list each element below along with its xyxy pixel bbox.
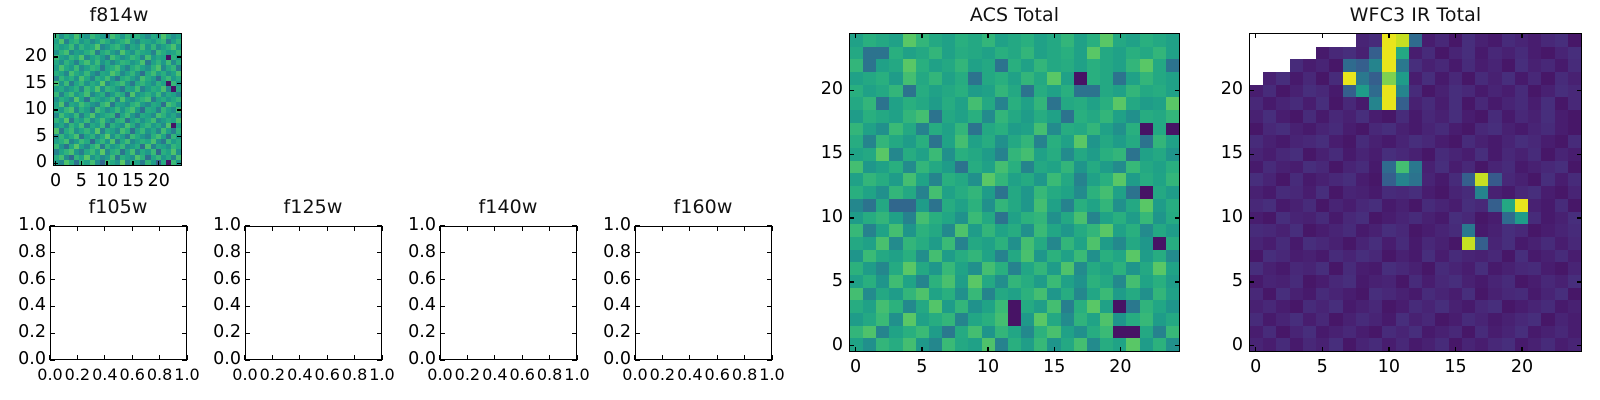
heatmap-cell xyxy=(942,59,955,72)
heatmap-cell xyxy=(1369,34,1382,47)
f125w-ytick-3 xyxy=(245,279,250,280)
heatmap-cell xyxy=(1034,313,1047,326)
heatmap-cell xyxy=(863,110,876,123)
f160w-xtick-2 xyxy=(689,355,690,360)
wfc3-ytick-right-0 xyxy=(1577,345,1582,346)
heatmap-cell xyxy=(1153,173,1166,186)
heatmap-cell xyxy=(1087,186,1100,199)
heatmap-cell xyxy=(916,326,929,339)
heatmap-cell xyxy=(1356,72,1369,85)
heatmap-cell xyxy=(1034,199,1047,212)
heatmap-cell xyxy=(1250,123,1263,136)
heatmap-cell xyxy=(1140,173,1153,186)
heatmap-cell xyxy=(1126,237,1139,250)
heatmap-cell xyxy=(1382,97,1395,110)
heatmap-cell xyxy=(1555,59,1568,72)
heatmap-cell xyxy=(1008,199,1021,212)
heatmap-cell xyxy=(1369,275,1382,288)
f160w-yticklabel-1: 0.2 xyxy=(591,322,631,342)
wfc3-ytick-10 xyxy=(1249,217,1254,218)
heatmap-cell xyxy=(929,224,942,237)
f814w-ytick-right-0 xyxy=(177,163,182,164)
heatmap-cell xyxy=(942,300,955,313)
heatmap-cell xyxy=(1369,148,1382,161)
f140w-ytick-right-2 xyxy=(572,306,577,307)
heatmap-cell xyxy=(1047,47,1060,60)
heatmap-cell xyxy=(1409,161,1422,174)
heatmap-cell xyxy=(1316,250,1329,263)
heatmap-cell xyxy=(863,148,876,161)
heatmap-cell xyxy=(903,250,916,263)
heatmap-cell xyxy=(1034,338,1047,351)
heatmap-cell xyxy=(929,85,942,98)
heatmap-cell xyxy=(942,173,955,186)
heatmap-cell xyxy=(1382,275,1395,288)
heatmap-cell xyxy=(929,262,942,275)
heatmap-cell xyxy=(1356,186,1369,199)
panel-title-wfc3-total: WFC3 IR Total xyxy=(1249,4,1582,26)
heatmap-cell xyxy=(876,148,889,161)
heatmap-cell xyxy=(1100,123,1113,136)
f125w-xtick-5 xyxy=(381,355,382,360)
heatmap-cell xyxy=(1061,186,1074,199)
f814w-xtick-top-20 xyxy=(158,33,159,38)
heatmap-cell xyxy=(995,313,1008,326)
wfc3-ytick-20 xyxy=(1249,90,1254,91)
heatmap-cell xyxy=(1100,135,1113,148)
heatmap-cell xyxy=(1462,47,1475,60)
heatmap-cell xyxy=(929,161,942,174)
heatmap-cell xyxy=(942,313,955,326)
f814w-ytick-20 xyxy=(53,56,58,57)
heatmap-cell xyxy=(889,97,902,110)
acs-xticklabel-20: 20 xyxy=(1095,357,1145,377)
heatmap-cell xyxy=(863,173,876,186)
heatmap-cell xyxy=(916,313,929,326)
heatmap-cell xyxy=(968,224,981,237)
heatmap-cell xyxy=(1462,212,1475,225)
acs-ytick-right-0 xyxy=(1175,345,1180,346)
heatmap-cell xyxy=(942,110,955,123)
heatmap-cell xyxy=(1087,326,1100,339)
heatmap-cell xyxy=(1462,97,1475,110)
heatmap-cell xyxy=(1113,186,1126,199)
heatmap-cell xyxy=(876,173,889,186)
heatmap-cell xyxy=(1140,275,1153,288)
heatmap-cell xyxy=(1290,300,1303,313)
heatmap-cell xyxy=(1462,313,1475,326)
heatmap-cell xyxy=(1061,212,1074,225)
heatmap-cell xyxy=(1074,47,1087,60)
heatmap-cell xyxy=(1166,288,1179,301)
panel-title-f125w: f125w xyxy=(243,196,383,218)
heatmap-cell xyxy=(1568,173,1581,186)
heatmap-cell xyxy=(1409,212,1422,225)
heatmap-cell xyxy=(1422,288,1435,301)
heatmap-cell xyxy=(1541,110,1554,123)
heatmap-cell xyxy=(1263,97,1276,110)
heatmap-cell xyxy=(1502,34,1515,47)
heatmap-cell xyxy=(955,47,968,60)
f105w-xtick-top-1 xyxy=(77,226,78,231)
heatmap-cell xyxy=(929,313,942,326)
heatmap-cell xyxy=(1541,135,1554,148)
heatmap-cell xyxy=(1250,72,1263,85)
f160w-xtick-top-0 xyxy=(634,226,635,231)
f125w-ytick-2 xyxy=(245,306,250,307)
heatmap-cell xyxy=(1303,199,1316,212)
panel-title-f160w: f160w xyxy=(633,196,773,218)
heatmap-cell xyxy=(1369,59,1382,72)
heatmap-cell xyxy=(1435,275,1448,288)
f105w-ytick-right-2 xyxy=(182,306,187,307)
heatmap-cell xyxy=(1126,199,1139,212)
heatmap-cell xyxy=(1449,199,1462,212)
heatmap-cell xyxy=(1528,199,1541,212)
heatmap-cell xyxy=(942,250,955,263)
heatmap-cell xyxy=(1087,97,1100,110)
heatmap-cell xyxy=(1568,161,1581,174)
f160w-xtick-4 xyxy=(744,355,745,360)
heatmap-cell xyxy=(1008,123,1021,136)
heatmap-cell xyxy=(1008,110,1021,123)
heatmap-cell xyxy=(982,148,995,161)
heatmap-cell xyxy=(1329,173,1342,186)
heatmap-cell xyxy=(1356,237,1369,250)
heatmap-cell xyxy=(1541,250,1554,263)
heatmap-cell xyxy=(1153,186,1166,199)
heatmap-cell xyxy=(889,161,902,174)
heatmap-cell xyxy=(1502,338,1515,351)
acs-yticklabel-20: 20 xyxy=(803,79,843,99)
acs-xtick-top-0 xyxy=(855,33,856,38)
heatmap-cell xyxy=(1462,34,1475,47)
heatmap-cell xyxy=(1568,313,1581,326)
heatmap-cell xyxy=(876,212,889,225)
heatmap-cell xyxy=(955,275,968,288)
heatmap-cell xyxy=(1276,47,1289,60)
heatmap-cell xyxy=(1087,161,1100,174)
heatmap-cell xyxy=(1276,326,1289,339)
heatmap-cell xyxy=(916,288,929,301)
heatmap-cell xyxy=(942,123,955,136)
f140w-yticklabel-2: 0.4 xyxy=(396,295,436,315)
heatmap-cell xyxy=(1343,199,1356,212)
plot-area-f105w[interactable] xyxy=(50,226,187,360)
heatmap-cell xyxy=(1488,148,1501,161)
f160w-ytick-right-2 xyxy=(767,306,772,307)
heatmap-cell xyxy=(1113,288,1126,301)
heatmap-cell xyxy=(903,288,916,301)
f140w-xtick-5 xyxy=(576,355,577,360)
heatmap-cell xyxy=(1047,237,1060,250)
plot-area-f125w[interactable] xyxy=(245,226,382,360)
heatmap-cell xyxy=(968,300,981,313)
heatmap-cell xyxy=(1528,262,1541,275)
acs-ytick-right-15 xyxy=(1175,154,1180,155)
heatmap-cell xyxy=(1166,72,1179,85)
heatmap-cell xyxy=(889,212,902,225)
acs-xtick-top-10 xyxy=(987,33,988,38)
f125w-yticklabel-1: 0.2 xyxy=(201,322,241,342)
heatmap-cell xyxy=(863,59,876,72)
f125w-xtick-top-0 xyxy=(244,226,245,231)
heatmap-cell xyxy=(982,72,995,85)
heatmap-cell xyxy=(1343,237,1356,250)
heatmap-cell xyxy=(1290,97,1303,110)
heatmap-cell xyxy=(1502,148,1515,161)
heatmap-cell xyxy=(1021,199,1034,212)
heatmap-cell xyxy=(1263,212,1276,225)
heatmap-cell xyxy=(1303,326,1316,339)
f125w-xtick-top-5 xyxy=(381,226,382,231)
heatmap-cell xyxy=(1422,250,1435,263)
heatmap-cell xyxy=(1422,326,1435,339)
heatmap-cell xyxy=(942,97,955,110)
heatmap-cell xyxy=(876,288,889,301)
heatmap-cell xyxy=(1303,97,1316,110)
heatmap-cell xyxy=(1422,224,1435,237)
plot-area-acs-total[interactable] xyxy=(849,33,1180,352)
heatmap-cell xyxy=(1153,288,1166,301)
heatmap-cell xyxy=(1074,212,1087,225)
heatmap-cell xyxy=(1488,34,1501,47)
heatmap-cell xyxy=(1502,250,1515,263)
heatmap-cell xyxy=(1382,288,1395,301)
heatmap-cell xyxy=(1263,275,1276,288)
heatmap-cell xyxy=(1100,110,1113,123)
heatmap-cell xyxy=(1488,313,1501,326)
heatmap-cell xyxy=(942,212,955,225)
heatmap-cell xyxy=(1021,313,1034,326)
heatmap-cell xyxy=(1008,161,1021,174)
heatmap-cell xyxy=(1008,237,1021,250)
heatmap-cell xyxy=(995,262,1008,275)
heatmap-cell xyxy=(1276,262,1289,275)
heatmap-cell xyxy=(1343,288,1356,301)
f105w-yticklabel-4: 0.8 xyxy=(6,242,46,262)
f125w-xtick-1 xyxy=(272,355,273,360)
heatmap-cell xyxy=(929,338,942,351)
heatmap-cell xyxy=(1369,72,1382,85)
heatmap-cell xyxy=(968,262,981,275)
heatmap-cell xyxy=(995,288,1008,301)
heatmap-cell xyxy=(1074,186,1087,199)
plot-area-f140w[interactable] xyxy=(440,226,577,360)
f814w-ytick-10 xyxy=(53,109,58,110)
heatmap-cell xyxy=(850,199,863,212)
heatmap-cell xyxy=(1140,224,1153,237)
heatmap-cell xyxy=(1409,97,1422,110)
heatmap-cell xyxy=(982,186,995,199)
heatmap-cell xyxy=(982,313,995,326)
heatmap-cell xyxy=(1087,72,1100,85)
heatmap-cell xyxy=(942,85,955,98)
heatmap-cell xyxy=(955,212,968,225)
heatmap-cell xyxy=(1449,173,1462,186)
heatmap-cell xyxy=(1140,326,1153,339)
heatmap-cell xyxy=(1329,288,1342,301)
heatmap-cell xyxy=(1140,72,1153,85)
heatmap-cell xyxy=(903,224,916,237)
heatmap-cell xyxy=(1329,47,1342,60)
heatmap-cell xyxy=(982,288,995,301)
heatmap-cell xyxy=(1528,123,1541,136)
heatmap-cell xyxy=(1126,186,1139,199)
heatmap-cell xyxy=(1541,224,1554,237)
heatmap-cell xyxy=(889,173,902,186)
heatmap-cell xyxy=(1276,338,1289,351)
heatmap-cell xyxy=(1100,97,1113,110)
heatmap-cell xyxy=(1074,313,1087,326)
heatmap-cell xyxy=(1153,300,1166,313)
heatmap-cell xyxy=(1074,262,1087,275)
heatmap-cell xyxy=(1047,135,1060,148)
heatmap-cell xyxy=(863,338,876,351)
wfc3-xtick-top-5 xyxy=(1322,33,1323,38)
heatmap-cell xyxy=(968,173,981,186)
heatmap-wfc3-total xyxy=(1250,34,1581,351)
heatmap-cell xyxy=(850,250,863,263)
heatmap-cell xyxy=(1488,250,1501,263)
f814w-ytick-15 xyxy=(53,83,58,84)
heatmap-cell xyxy=(1555,275,1568,288)
heatmap-cell xyxy=(1008,97,1021,110)
heatmap-cell xyxy=(863,47,876,60)
heatmap-cell xyxy=(1021,47,1034,60)
f140w-xtick-top-4 xyxy=(549,226,550,231)
heatmap-cell xyxy=(1126,338,1139,351)
heatmap-cell xyxy=(1034,97,1047,110)
heatmap-cell xyxy=(1329,97,1342,110)
heatmap-cell xyxy=(1290,59,1303,72)
heatmap-cell xyxy=(1449,313,1462,326)
heatmap-cell xyxy=(1462,161,1475,174)
heatmap-cell xyxy=(968,123,981,136)
heatmap-cell xyxy=(850,173,863,186)
heatmap-cell xyxy=(1140,186,1153,199)
heatmap-cell xyxy=(1382,300,1395,313)
plot-area-f814w[interactable] xyxy=(53,33,182,166)
heatmap-cell xyxy=(1113,161,1126,174)
f105w-ytick-5 xyxy=(50,225,55,226)
heatmap-cell xyxy=(1008,326,1021,339)
heatmap-cell xyxy=(1008,313,1021,326)
heatmap-cell xyxy=(1087,34,1100,47)
f160w-yticklabel-0: 0.0 xyxy=(591,349,631,369)
heatmap-cell xyxy=(1303,288,1316,301)
f140w-yticklabel-1: 0.2 xyxy=(396,322,436,342)
heatmap-cell xyxy=(1061,47,1074,60)
heatmap-cell xyxy=(1166,135,1179,148)
f814w-yticklabel-20: 20 xyxy=(7,46,47,66)
heatmap-cell xyxy=(1153,250,1166,263)
heatmap-cell xyxy=(1555,148,1568,161)
acs-ytick-20 xyxy=(849,90,854,91)
heatmap-cell xyxy=(876,161,889,174)
heatmap-cell xyxy=(1396,212,1409,225)
heatmap-cell xyxy=(1140,34,1153,47)
heatmap-cell xyxy=(1034,250,1047,263)
heatmap-cell xyxy=(1541,186,1554,199)
heatmap-cell xyxy=(1263,224,1276,237)
heatmap-cell xyxy=(1074,135,1087,148)
heatmap-cell xyxy=(903,85,916,98)
heatmap-cell xyxy=(1475,199,1488,212)
f105w-xtick-1 xyxy=(77,355,78,360)
heatmap-cell xyxy=(1475,224,1488,237)
heatmap-cell xyxy=(1140,288,1153,301)
plot-area-f160w[interactable] xyxy=(635,226,772,360)
f125w-ytick-right-1 xyxy=(377,333,382,334)
heatmap-cell xyxy=(1555,224,1568,237)
f105w-ytick-1 xyxy=(50,333,55,334)
heatmap-cell xyxy=(863,300,876,313)
heatmap-cell xyxy=(1409,135,1422,148)
heatmap-cell xyxy=(1488,110,1501,123)
plot-area-wfc3-total[interactable] xyxy=(1249,33,1582,352)
heatmap-cell xyxy=(1409,186,1422,199)
heatmap-cell xyxy=(1475,47,1488,60)
heatmap-f814w xyxy=(54,34,181,165)
heatmap-cell xyxy=(1061,72,1074,85)
heatmap-cell xyxy=(1303,237,1316,250)
heatmap-cell xyxy=(1541,59,1554,72)
heatmap-cell xyxy=(1074,148,1087,161)
heatmap-cell xyxy=(929,72,942,85)
heatmap-cell xyxy=(850,110,863,123)
heatmap-cell xyxy=(1343,47,1356,60)
heatmap-cell xyxy=(1515,186,1528,199)
heatmap-cell xyxy=(1263,161,1276,174)
heatmap-acs-total xyxy=(850,34,1179,351)
heatmap-cell xyxy=(982,97,995,110)
heatmap-cell xyxy=(1568,72,1581,85)
heatmap-cell xyxy=(1316,110,1329,123)
heatmap-cell xyxy=(1140,135,1153,148)
heatmap-cell xyxy=(876,237,889,250)
heatmap-cell xyxy=(1488,161,1501,174)
heatmap-cell xyxy=(1329,123,1342,136)
f125w-xtick-4 xyxy=(354,355,355,360)
heatmap-cell xyxy=(1153,338,1166,351)
f125w-ytick-right-3 xyxy=(377,279,382,280)
heatmap-cell xyxy=(1047,173,1060,186)
heatmap-cell xyxy=(1422,212,1435,225)
heatmap-cell xyxy=(1021,262,1034,275)
heatmap-cell xyxy=(1356,250,1369,263)
heatmap-cell xyxy=(1541,262,1554,275)
heatmap-cell xyxy=(1475,34,1488,47)
heatmap-cell xyxy=(876,97,889,110)
heatmap-cell xyxy=(1528,224,1541,237)
heatmap-cell xyxy=(955,123,968,136)
heatmap-cell xyxy=(1435,97,1448,110)
heatmap-cell xyxy=(1502,186,1515,199)
heatmap-cell xyxy=(1502,199,1515,212)
heatmap-cell xyxy=(1462,288,1475,301)
heatmap-cell xyxy=(955,338,968,351)
heatmap-cell xyxy=(1166,250,1179,263)
heatmap-cell xyxy=(1515,123,1528,136)
heatmap-cell xyxy=(1303,110,1316,123)
heatmap-cell xyxy=(863,199,876,212)
heatmap-cell xyxy=(1343,161,1356,174)
heatmap-cell xyxy=(1113,275,1126,288)
heatmap-cell xyxy=(850,326,863,339)
heatmap-cell xyxy=(1329,186,1342,199)
heatmap-cell xyxy=(1382,326,1395,339)
